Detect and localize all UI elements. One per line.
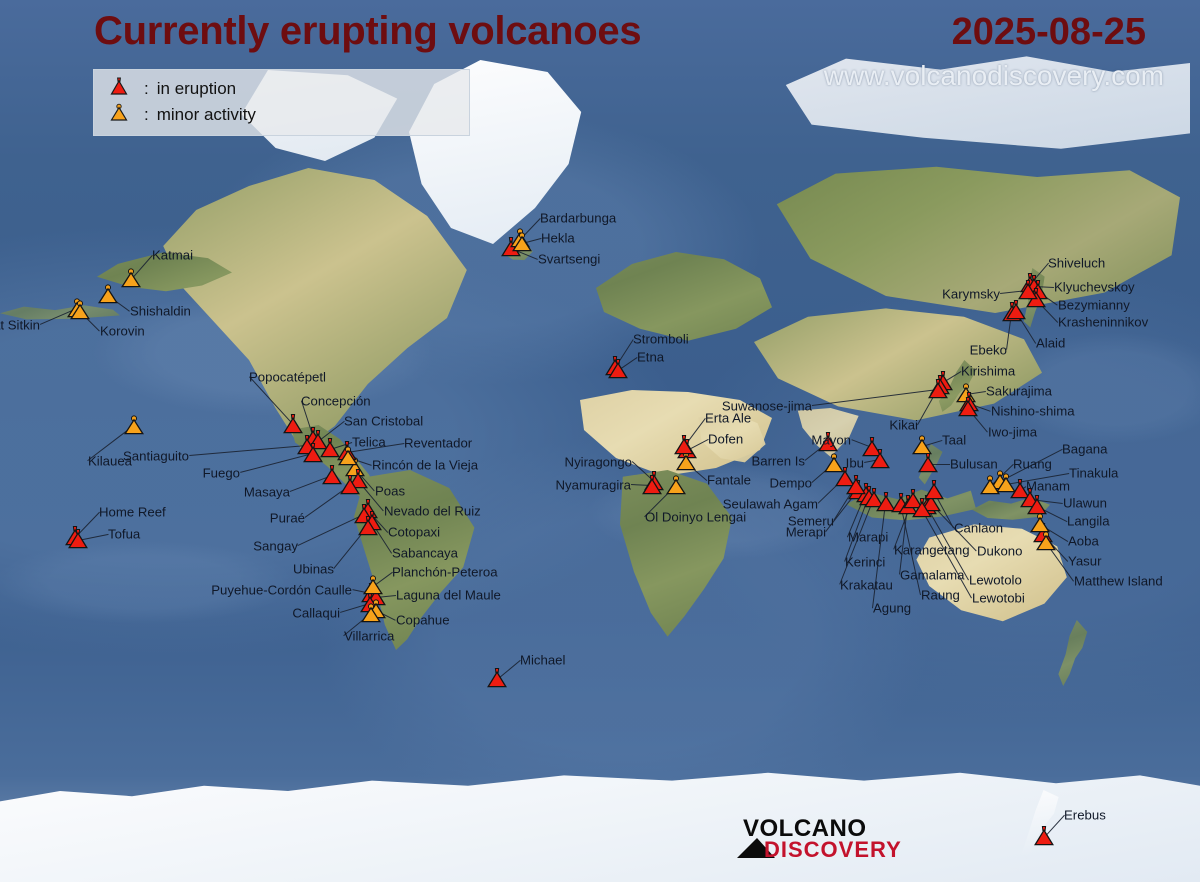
- volcano-label[interactable]: Ebeko: [970, 343, 1007, 356]
- volcano-label[interactable]: Agung: [873, 601, 911, 614]
- volcano-label[interactable]: Reventador: [404, 436, 472, 449]
- volcano-label[interactable]: Copahue: [396, 613, 450, 626]
- volcano-marker-in-eruption[interactable]: [916, 452, 940, 476]
- volcano-label[interactable]: Ubinas: [293, 562, 334, 575]
- volcano-label[interactable]: Hekla: [541, 231, 575, 244]
- volcano-marker-in-eruption[interactable]: [640, 474, 664, 498]
- volcano-label[interactable]: Manam: [1026, 479, 1070, 492]
- volcano-label[interactable]: Langila: [1067, 514, 1110, 527]
- volcano-label[interactable]: Suwanose-jima: [722, 399, 812, 412]
- volcano-label[interactable]: Yasur: [1068, 554, 1101, 567]
- legend-row-in-eruption: : in eruption: [108, 76, 469, 102]
- page-title: Currently erupting volcanoes: [94, 9, 641, 54]
- volcano-marker-minor-activity[interactable]: [664, 474, 688, 498]
- volcano-label[interactable]: Kirishima: [961, 364, 1015, 377]
- volcano-label[interactable]: Fuego: [203, 466, 240, 479]
- volcano-marker-minor-activity[interactable]: [119, 267, 143, 291]
- volcano-label[interactable]: Korovin: [100, 324, 145, 337]
- volcano-label[interactable]: Matthew Island: [1074, 574, 1163, 587]
- volcano-label[interactable]: Merapi: [786, 525, 826, 538]
- volcano-marker-in-eruption[interactable]: [910, 497, 934, 521]
- volcano-label[interactable]: Home Reef: [99, 505, 166, 518]
- volcano-marker-minor-activity[interactable]: [68, 299, 92, 323]
- volcano-red-icon: [108, 76, 130, 103]
- map-date: 2025-08-25: [952, 11, 1146, 54]
- volcano-label[interactable]: Puyehue-Cordón Caulle: [211, 583, 352, 596]
- volcano-orange-icon: [108, 102, 130, 129]
- volcano-label[interactable]: Stromboli: [633, 332, 689, 345]
- volcano-label[interactable]: San Cristobal: [344, 414, 423, 427]
- volcano-label[interactable]: Poas: [375, 484, 405, 497]
- volcano-label[interactable]: Lewotobi: [972, 591, 1025, 604]
- volcano-label[interactable]: Taal: [942, 433, 966, 446]
- volcano-label[interactable]: Etna: [637, 350, 664, 363]
- legend-colon: :: [144, 105, 149, 125]
- volcano-label[interactable]: Tofua: [108, 527, 140, 540]
- volcano-label[interactable]: Cotopaxi: [388, 525, 440, 538]
- legend-colon: :: [144, 79, 149, 99]
- volcano-label[interactable]: Barren Is: [751, 454, 805, 467]
- volcano-label[interactable]: Nevado del Ruiz: [384, 504, 481, 517]
- volcano-label[interactable]: Ol Doinyo Lengai: [645, 510, 746, 523]
- volcano-label[interactable]: Klyuchevskoy: [1054, 280, 1135, 293]
- volcano-label[interactable]: Popocatépetl: [249, 370, 326, 383]
- volcano-label[interactable]: Katmai: [152, 248, 193, 261]
- volcano-label[interactable]: Ulawun: [1063, 496, 1107, 509]
- volcano-label[interactable]: Aoba: [1068, 534, 1099, 547]
- volcano-label[interactable]: Marapi: [848, 530, 888, 543]
- legend-label-minor-activity: minor activity: [157, 105, 256, 125]
- volcano-label[interactable]: Michael: [520, 653, 565, 666]
- volcano-label[interactable]: Gamalama: [900, 568, 965, 581]
- volcano-label[interactable]: Kerinci: [845, 555, 885, 568]
- volcano-label[interactable]: Ibu: [846, 456, 864, 469]
- volcano-label[interactable]: Alaid: [1036, 336, 1065, 349]
- volcano-label[interactable]: Seulawah Agam: [723, 497, 818, 510]
- volcano-marker-minor-activity[interactable]: [96, 283, 120, 307]
- volcano-label[interactable]: Iwo-jima: [988, 425, 1037, 438]
- volcano-label[interactable]: Karymsky: [942, 287, 1000, 300]
- legend-panel: : in eruption : minor activity: [93, 69, 470, 136]
- volcano-marker-in-eruption[interactable]: [956, 396, 980, 420]
- volcano-label[interactable]: Sabancaya: [392, 546, 458, 559]
- volcano-marker-in-eruption[interactable]: [356, 515, 380, 539]
- volcano-label[interactable]: Sangay: [253, 539, 298, 552]
- volcano-label[interactable]: Dukono: [977, 544, 1022, 557]
- volcano-marker-minor-activity[interactable]: [122, 414, 146, 438]
- volcano-label[interactable]: Raung: [921, 588, 960, 601]
- volcano-label[interactable]: Tinakula: [1069, 466, 1118, 479]
- volcano-marker-in-eruption[interactable]: [606, 358, 630, 382]
- volcano-label[interactable]: Rincón de la Vieja: [372, 458, 478, 471]
- volcano-marker-minor-activity[interactable]: [978, 474, 1002, 498]
- volcano-marker-in-eruption[interactable]: [1032, 825, 1056, 849]
- volcano-label[interactable]: Laguna del Maule: [396, 588, 501, 601]
- legend-label-in-eruption: in eruption: [157, 79, 236, 99]
- volcano-label[interactable]: Karangetang: [894, 543, 970, 556]
- volcano-label[interactable]: Santiaguito: [123, 449, 189, 462]
- volcano-label[interactable]: Telica: [352, 435, 386, 448]
- volcano-label[interactable]: Dofen: [708, 432, 743, 445]
- volcano-marker-in-eruption[interactable]: [868, 448, 892, 472]
- volcano-label[interactable]: Bulusan: [950, 457, 998, 470]
- volcano-label[interactable]: Ruang: [1013, 457, 1052, 470]
- volcano-label[interactable]: Callaqui: [292, 606, 340, 619]
- volcano-label[interactable]: Sakurajima: [986, 384, 1052, 397]
- volcano-label[interactable]: Kikai: [889, 418, 918, 431]
- volcano-label[interactable]: Krakatau: [840, 578, 893, 591]
- volcano-label[interactable]: Puraé: [270, 511, 305, 524]
- volcano-label[interactable]: Concepción: [301, 394, 371, 407]
- volcano-label[interactable]: Dempo: [769, 476, 812, 489]
- volcano-marker-in-eruption[interactable]: [672, 434, 696, 458]
- volcano-marker-minor-activity[interactable]: [361, 574, 385, 598]
- logo-word-discovery: DISCOVERY: [764, 837, 902, 863]
- volcano-world-map: Currently erupting volcanoes 2025-08-25 …: [0, 0, 1200, 882]
- volcano-label[interactable]: Lewotolo: [969, 573, 1022, 586]
- volcano-label[interactable]: Villarrica: [344, 629, 394, 642]
- volcanodiscovery-logo: VOLCANO DISCOVERY: [735, 815, 895, 861]
- volcano-label[interactable]: Fantale: [707, 473, 751, 486]
- volcano-label[interactable]: Canlaon: [954, 521, 1003, 534]
- volcano-label[interactable]: Great Sitkin: [0, 318, 40, 331]
- volcano-label[interactable]: Bardarbunga: [540, 211, 616, 224]
- volcano-label[interactable]: Planchón-Peteroa: [392, 565, 498, 578]
- volcano-label[interactable]: Nyiragongo: [565, 455, 632, 468]
- volcano-marker-in-eruption[interactable]: [301, 442, 325, 466]
- volcano-label[interactable]: Krasheninnikov: [1058, 315, 1148, 328]
- volcano-marker-minor-activity[interactable]: [359, 602, 383, 626]
- volcano-marker-in-eruption[interactable]: [338, 474, 362, 498]
- volcano-marker-in-eruption[interactable]: [926, 378, 950, 402]
- volcano-marker-in-eruption[interactable]: [485, 667, 509, 691]
- volcano-label[interactable]: Erebus: [1064, 808, 1106, 821]
- volcano-label[interactable]: Mayon: [811, 433, 851, 446]
- volcano-label[interactable]: Shiveluch: [1048, 256, 1105, 269]
- legend-row-minor-activity: : minor activity: [108, 102, 469, 128]
- volcano-label[interactable]: Nyamuragira: [556, 478, 632, 491]
- volcano-marker-minor-activity[interactable]: [510, 231, 534, 255]
- volcano-marker-in-eruption[interactable]: [844, 474, 868, 498]
- volcano-label[interactable]: Shishaldin: [130, 304, 191, 317]
- volcano-label[interactable]: Svartsengi: [538, 252, 600, 265]
- volcano-label[interactable]: Bagana: [1062, 442, 1107, 455]
- volcano-label[interactable]: Masaya: [244, 485, 290, 498]
- volcano-label[interactable]: Nishino-shima: [991, 404, 1075, 417]
- volcano-marker-in-eruption[interactable]: [1016, 279, 1040, 303]
- volcano-label[interactable]: Bezymianny: [1058, 298, 1130, 311]
- website-url: www.volcanodiscovery.com: [824, 60, 1164, 92]
- volcano-marker-in-eruption[interactable]: [66, 528, 90, 552]
- volcano-marker-minor-activity[interactable]: [1028, 512, 1052, 536]
